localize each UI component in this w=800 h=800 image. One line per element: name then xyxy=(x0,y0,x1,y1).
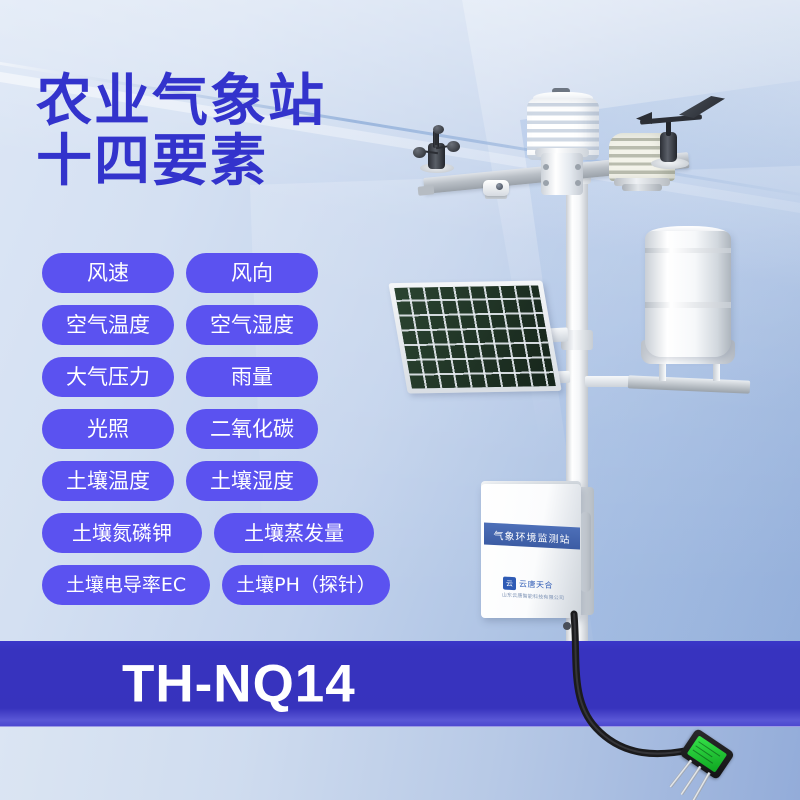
radiation-shield-cream-foot xyxy=(622,184,662,191)
anemometer-spoke xyxy=(435,133,438,145)
rain-gauge-bracket xyxy=(628,375,750,393)
shield-bolt xyxy=(543,164,549,170)
feature-pill-rainfall[interactable]: 雨量 xyxy=(186,357,318,397)
shield-bolt xyxy=(543,180,549,186)
rain-gauge-ring xyxy=(645,302,731,308)
feature-pill-air-humidity[interactable]: 空气湿度 xyxy=(186,305,318,345)
rain-gauge-leg xyxy=(713,363,720,381)
feature-pill-row: 风速 风向 xyxy=(42,253,372,293)
solar-panel xyxy=(388,281,561,394)
feature-pill-soil-moisture[interactable]: 土壤湿度 xyxy=(186,461,318,501)
feature-pill-soil-temperature[interactable]: 土壤温度 xyxy=(42,461,174,501)
wind-vane-fin xyxy=(679,96,725,118)
feature-pill-wind-direction[interactable]: 风向 xyxy=(186,253,318,293)
feature-pill-grid: 风速 风向 空气温度 空气湿度 大气压力 雨量 光照 二氧化碳 土壤温度 土壤湿… xyxy=(42,253,372,617)
feature-pill-row: 土壤氮磷钾 土壤蒸发量 xyxy=(42,513,372,553)
wind-vane-body xyxy=(660,132,677,162)
solar-panel-cells xyxy=(394,286,555,389)
headline-line-1: 农业气象站 xyxy=(36,72,326,132)
control-box-hinge xyxy=(580,512,591,592)
shield-bolt xyxy=(575,164,581,170)
feature-pill-row: 空气温度 空气湿度 xyxy=(42,305,372,345)
radiation-shield-white-neck xyxy=(541,153,583,195)
rain-gauge-leg xyxy=(659,363,666,381)
brand-logo-text: 云唐天合 xyxy=(519,578,553,591)
feature-pill-row: 土壤温度 土壤湿度 xyxy=(42,461,372,501)
anemometer-cup xyxy=(447,141,460,152)
product-poster: 气象环境监测站 云 云唐天合 山东云唐智能科技有限公司 农业气象站 十四要素 风… xyxy=(0,0,800,800)
feature-pill-wind-speed[interactable]: 风速 xyxy=(42,253,174,293)
feature-pill-soil-ph-probe[interactable]: 土壤PH（探针） xyxy=(222,565,390,605)
light-sensor-lens xyxy=(496,183,503,190)
rain-gauge-ring xyxy=(645,248,731,253)
feature-pill-row: 土壤电导率EC 土壤PH（探针） xyxy=(42,565,372,605)
headline-line-2: 十四要素 xyxy=(36,132,326,192)
shield-bolt xyxy=(575,180,581,186)
feature-pill-air-pressure[interactable]: 大气压力 xyxy=(42,357,174,397)
anemometer-cup xyxy=(433,125,444,134)
feature-pill-row: 光照 二氧化碳 xyxy=(42,409,372,449)
feature-pill-illuminance[interactable]: 光照 xyxy=(42,409,174,449)
feature-pill-soil-npk[interactable]: 土壤氮磷钾 xyxy=(42,513,202,553)
poster-headline: 农业气象站 十四要素 xyxy=(36,72,326,192)
feature-pill-carbon-dioxide[interactable]: 二氧化碳 xyxy=(186,409,318,449)
anemometer-cup xyxy=(413,147,426,158)
feature-pill-soil-evaporation[interactable]: 土壤蒸发量 xyxy=(214,513,374,553)
model-number: TH-NQ14 xyxy=(122,654,356,715)
sensor-cable xyxy=(500,600,800,800)
feature-pill-soil-conductivity-ec[interactable]: 土壤电导率EC xyxy=(42,565,210,605)
feature-pill-air-temperature[interactable]: 空气温度 xyxy=(42,305,174,345)
brand-logo-icon: 云 xyxy=(503,577,516,591)
feature-pill-row: 大气压力 雨量 xyxy=(42,357,372,397)
crossarm-tip xyxy=(418,185,435,196)
